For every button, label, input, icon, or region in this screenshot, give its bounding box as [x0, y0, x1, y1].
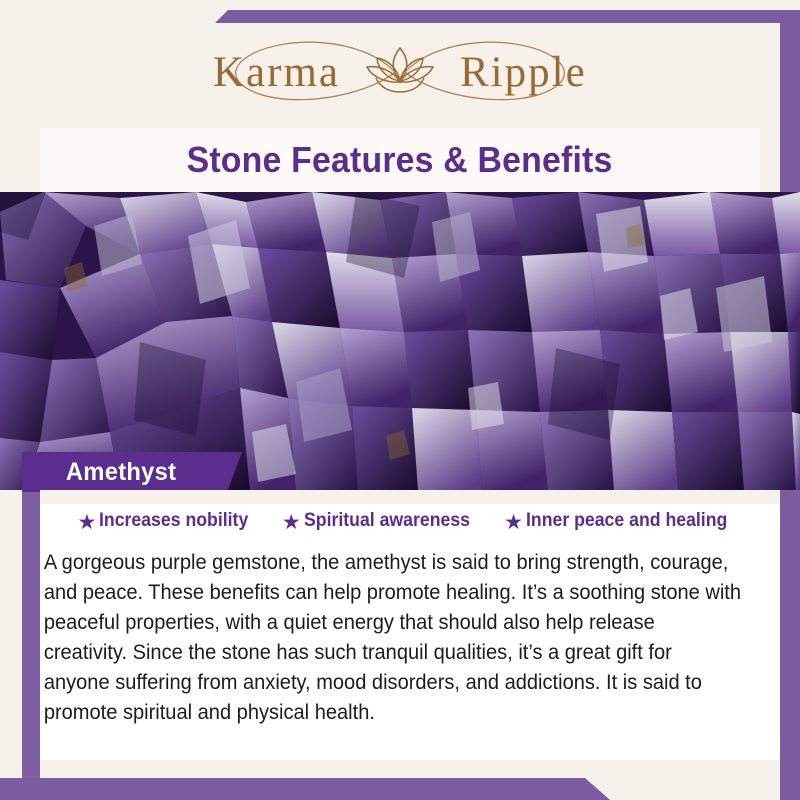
bottom-accent-bar [0, 778, 640, 800]
benefit-label-1: Increases nobility [99, 510, 248, 532]
stone-name-label: Amethyst [22, 452, 242, 492]
stone-name-text: Amethyst [26, 458, 176, 487]
benefit-label-3: Inner peace and healing [526, 510, 727, 532]
benefit-label-2: Spiritual awareness [304, 510, 470, 532]
star-icon: ★ [504, 512, 523, 533]
lotus-icon [367, 48, 433, 92]
poster-canvas: Karma Ripple Stone Features & Benefits [0, 0, 800, 800]
top-accent-bar [0, 10, 800, 23]
card-top-strip [40, 490, 780, 504]
brand-logo-artwork: Karma Ripple [190, 28, 610, 116]
benefit-item-3: ★ Inner peace and healing [504, 510, 742, 532]
benefits-list: ★ Increases nobility ★ Spiritual awarene… [40, 510, 780, 532]
benefit-item-1: ★ Increases nobility [78, 510, 260, 532]
star-icon: ★ [282, 512, 301, 533]
benefit-item-2: ★ Spiritual awareness [282, 510, 482, 532]
brand-name-left: Karma [213, 49, 340, 96]
hero-image [0, 192, 800, 490]
brand-name-right: Ripple [460, 49, 587, 96]
content-card: ★ Increases nobility ★ Spiritual awarene… [40, 490, 780, 760]
page-title: Stone Features & Benefits [187, 139, 613, 181]
star-icon: ★ [78, 512, 97, 533]
description-paragraph: A gorgeous purple gemstone, the amethyst… [40, 548, 747, 728]
headline-band: Stone Features & Benefits [40, 128, 760, 192]
brand-logo: Karma Ripple [0, 28, 800, 116]
amethyst-crystal-artwork [0, 192, 800, 490]
left-accent-strip [22, 490, 40, 780]
